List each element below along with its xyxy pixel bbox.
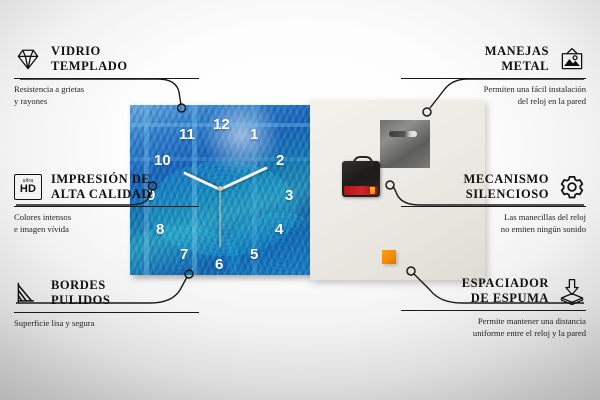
feature-desc-line1: Permite mantener una distancia <box>478 316 586 326</box>
feature-title-line1: VIDRIO <box>51 44 101 58</box>
ultra-hd-badge-icon: ultra HD <box>14 174 42 200</box>
feature-divider <box>401 78 586 80</box>
feature-header: MANEJAS METAL <box>401 44 586 74</box>
feature-title: ESPACIADOR DE ESPUMA <box>462 276 549 306</box>
gear-icon <box>558 173 586 201</box>
feature-title: IMPRESIÓN DE ALTA CALIDAD <box>51 172 151 202</box>
feature-title-line1: IMPRESIÓN DE <box>51 172 150 186</box>
infographic-canvas: 12 1 2 3 4 5 6 7 8 9 10 11 <box>0 0 600 400</box>
feature-description: Resistencia a grietas y rayones <box>14 83 199 107</box>
feature-divider <box>14 206 199 208</box>
connector-dot-mecanismo <box>386 181 394 189</box>
connector-dot-espaciador <box>407 267 415 275</box>
feature-desc-line2: del reloj en la pared <box>518 96 586 106</box>
feature-title: VIDRIO TEMPLADO <box>51 44 128 74</box>
feature-desc-line1: Superficie lisa y segura <box>14 318 94 328</box>
feature-header: BORDES PULIDOS <box>14 278 199 308</box>
feature-divider <box>14 78 199 80</box>
feature-header: ultra HD IMPRESIÓN DE ALTA CALIDAD <box>14 172 199 202</box>
hanging-picture-frame-icon <box>558 45 586 73</box>
feature-desc-line2: e imagen vívida <box>14 224 69 234</box>
feature-title-line1: ESPACIADOR <box>462 276 549 290</box>
feature-title-line2: PULIDOS <box>51 293 110 307</box>
feature-desc-line1: Resistencia a grietas <box>14 84 84 94</box>
feature-manejas-metal: MANEJAS METAL Permiten una fácil instala… <box>401 44 586 107</box>
feature-title-line2: TEMPLADO <box>51 59 128 73</box>
feature-description: Las manecillas del reloj no emiten ningú… <box>401 211 586 235</box>
feature-desc-line1: Las manecillas del reloj <box>504 212 586 222</box>
diamond-icon <box>14 45 42 73</box>
feature-desc-line2: no emiten ningún sonido <box>501 224 586 234</box>
feature-mecanismo-silencioso: MECANISMO SILENCIOSO Las manecillas del … <box>401 172 586 235</box>
down-arrow-foam-pad-icon <box>558 277 586 305</box>
connector-dot-bordes <box>185 270 193 278</box>
feature-header: VIDRIO TEMPLADO <box>14 44 199 74</box>
feature-title-line1: MECANISMO <box>463 172 549 186</box>
feature-desc-line2: y rayones <box>14 96 47 106</box>
feature-description: Superficie lisa y segura <box>14 317 199 329</box>
feature-header: MECANISMO SILENCIOSO <box>401 172 586 202</box>
polished-edge-icon <box>14 279 42 307</box>
feature-description: Colores intensos e imagen vívida <box>14 211 199 235</box>
feature-impresion-alta-calidad: ultra HD IMPRESIÓN DE ALTA CALIDAD Color… <box>14 172 199 235</box>
feature-title: MECANISMO SILENCIOSO <box>463 172 549 202</box>
feature-title-line2: ALTA CALIDAD <box>51 187 151 201</box>
feature-espaciador-espuma: ESPACIADOR DE ESPUMA Permite mantener un… <box>401 276 586 339</box>
feature-title-line2: DE ESPUMA <box>471 291 549 305</box>
connector-dot-manejas <box>423 108 431 116</box>
feature-header: ESPACIADOR DE ESPUMA <box>401 276 586 306</box>
feature-divider <box>401 206 586 208</box>
feature-title-line1: BORDES <box>51 278 106 292</box>
feature-bordes-pulidos: BORDES PULIDOS Superficie lisa y segura <box>14 278 199 329</box>
feature-desc-line2: uniforme entre el reloj y la pared <box>473 328 586 338</box>
feature-description: Permite mantener una distancia uniforme … <box>401 315 586 339</box>
feature-divider <box>401 310 586 312</box>
feature-title-line2: SILENCIOSO <box>466 187 549 201</box>
feature-description: Permiten una fácil instalación del reloj… <box>401 83 586 107</box>
feature-vidrio-templado: VIDRIO TEMPLADO Resistencia a grietas y … <box>14 44 199 107</box>
feature-title: BORDES PULIDOS <box>51 278 110 308</box>
feature-title-line2: METAL <box>501 59 549 73</box>
feature-title-line1: MANEJAS <box>485 44 549 58</box>
feature-title: MANEJAS METAL <box>485 44 549 74</box>
feature-desc-line1: Permiten una fácil instalación <box>484 84 586 94</box>
feature-divider <box>14 312 199 314</box>
feature-desc-line1: Colores intensos <box>14 212 71 222</box>
ultra-hd-large-text: HD <box>20 184 36 195</box>
